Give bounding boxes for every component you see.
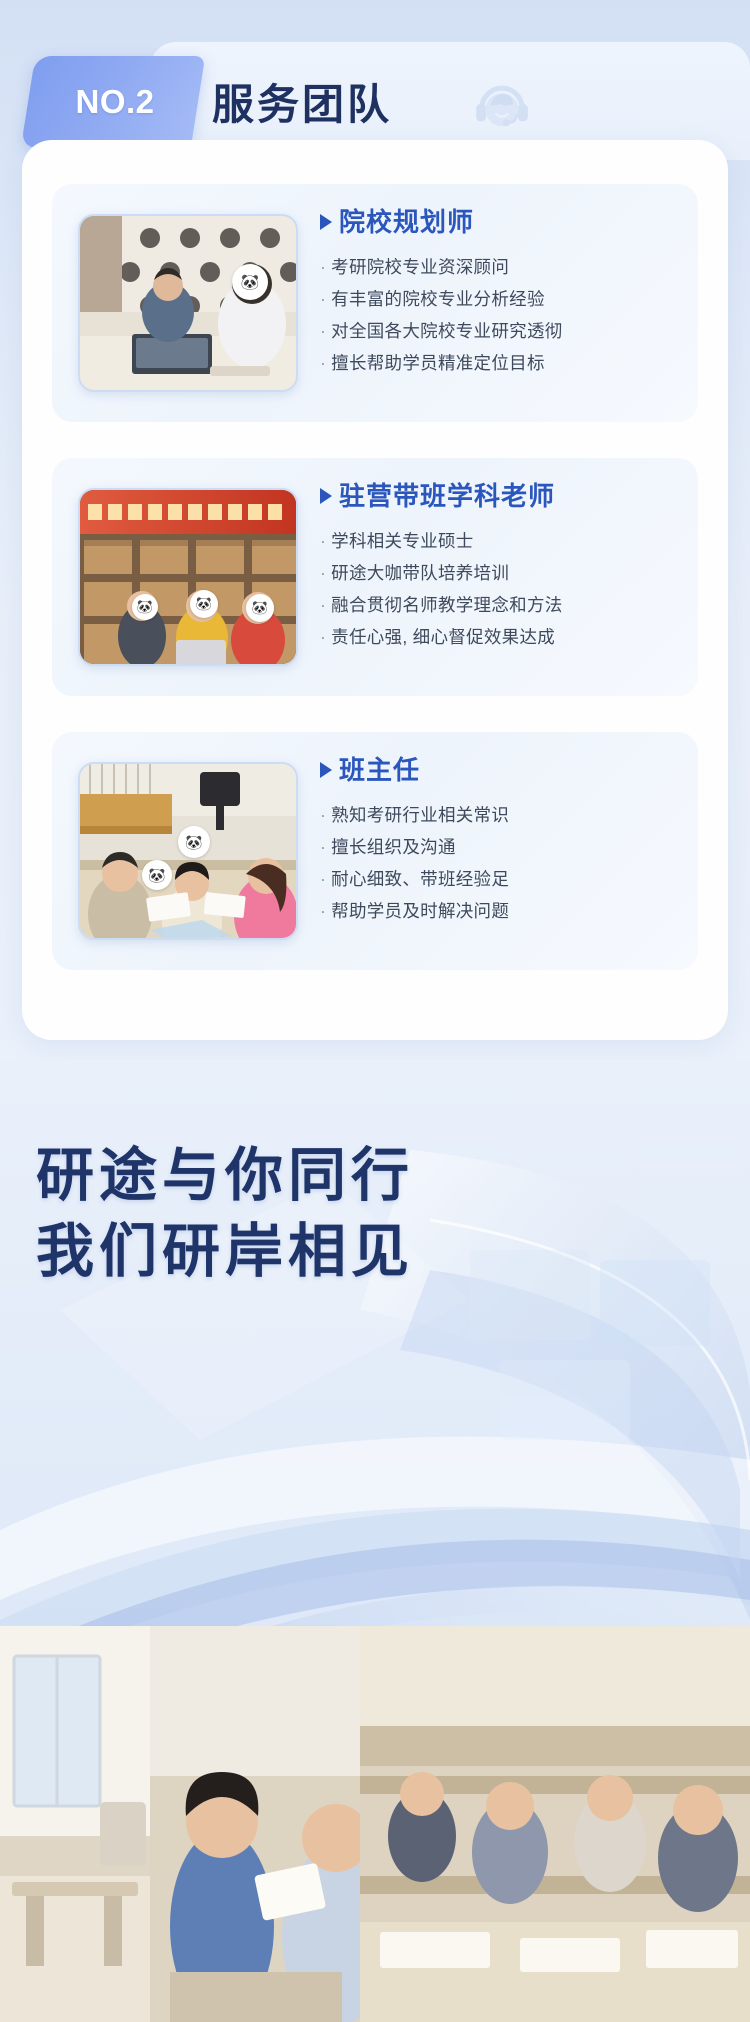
bullet-dot-icon: · xyxy=(320,595,326,615)
slogan-line-2: 我们研岸相见 xyxy=(36,1214,414,1290)
strip-photo-classroom xyxy=(360,1626,750,2022)
team-bullet: ·融合贯彻名师教学理念和方法 xyxy=(320,589,692,621)
triangle-marker-icon xyxy=(320,488,332,504)
team-bullet: ·熟知考研行业相关常识 xyxy=(320,799,692,831)
team-card-body-head-teacher: 班主任 ·熟知考研行业相关常识 ·擅长组织及沟通 ·耐心细致、带班经验足 ·帮助… xyxy=(320,750,692,927)
bullet-dot-icon: · xyxy=(320,353,326,373)
team-bullet: ·责任心强, 细心督促效果达成 xyxy=(320,621,692,653)
team-photo-planner: 🐼 xyxy=(78,214,298,392)
team-card-planner[interactable]: 🐼 院校规划师 ·考研院校专业资深顾问 ·有丰富的院校专业分析经验 ·对全国各大… xyxy=(52,184,698,422)
team-bullet: ·考研院校专业资深顾问 xyxy=(320,251,692,283)
team-bullet: ·帮助学员及时解决问题 xyxy=(320,895,692,927)
team-bullet: ·有丰富的院校专业分析经验 xyxy=(320,283,692,315)
strip-photo-study-room xyxy=(0,1626,150,2022)
face-sticker: 🐼 xyxy=(232,264,268,300)
face-sticker: 🐼 xyxy=(190,590,218,618)
bullet-dot-icon: · xyxy=(320,289,326,309)
slogan-text: 研途与你同行 我们研岸相见 xyxy=(36,1138,414,1290)
bullet-dot-icon: · xyxy=(320,531,326,551)
team-card-body-planner: 院校规划师 ·考研院校专业资深顾问 ·有丰富的院校专业分析经验 ·对全国各大院校… xyxy=(320,202,692,379)
headset-support-icon xyxy=(466,68,538,140)
team-bullet: ·学科相关专业硕士 xyxy=(320,525,692,557)
team-bullet: ·对全国各大院校专业研究透彻 xyxy=(320,315,692,347)
bullet-dot-icon: · xyxy=(320,321,326,341)
triangle-marker-icon xyxy=(320,762,332,778)
team-photo-head-teacher: 🐼 🐼 xyxy=(78,762,298,940)
face-sticker: 🐼 xyxy=(142,860,172,890)
team-bullet: ·耐心细致、带班经验足 xyxy=(320,863,692,895)
bullet-dot-icon: · xyxy=(320,805,326,825)
team-bullet: ·擅长帮助学员精准定位目标 xyxy=(320,347,692,379)
team-role-title-camp-teacher: 驻营带班学科老师 xyxy=(320,476,692,513)
bottom-photo-strip: 🌼 xyxy=(0,1626,750,2022)
triangle-marker-icon xyxy=(320,214,332,230)
slogan-line-1: 研途与你同行 xyxy=(36,1138,414,1214)
face-sticker: 🐼 xyxy=(132,594,158,620)
bullet-dot-icon: · xyxy=(320,869,326,889)
team-card-camp-teacher[interactable]: 🐼 🐼 🐼 驻营带班学科老师 ·学科相关专业硕士 ·研途大咖带队培养培训 ·融合… xyxy=(52,458,698,696)
team-card-body-camp-teacher: 驻营带班学科老师 ·学科相关专业硕士 ·研途大咖带队培养培训 ·融合贯彻名师教学… xyxy=(320,476,692,653)
section-number-badge-label: NO.2 xyxy=(40,56,190,148)
team-bullet: ·擅长组织及沟通 xyxy=(320,831,692,863)
bullet-dot-icon: · xyxy=(320,563,326,583)
team-photo-camp-teacher: 🐼 🐼 🐼 xyxy=(78,488,298,666)
face-sticker: 🐼 xyxy=(178,826,210,858)
bullet-dot-icon: · xyxy=(320,257,326,277)
team-cards-panel: 🐼 院校规划师 ·考研院校专业资深顾问 ·有丰富的院校专业分析经验 ·对全国各大… xyxy=(22,140,728,1040)
strip-photo-consultation xyxy=(150,1626,360,2022)
team-card-head-teacher[interactable]: 🐼 🐼 班主任 ·熟知考研行业相关常识 ·擅长组织及沟通 ·耐心细致、带班经验足… xyxy=(52,732,698,970)
bullet-dot-icon: · xyxy=(320,627,326,647)
team-bullet: ·研途大咖带队培养培训 xyxy=(320,557,692,589)
bullet-dot-icon: · xyxy=(320,837,326,857)
team-role-title-head-teacher: 班主任 xyxy=(320,750,692,787)
team-role-title-planner: 院校规划师 xyxy=(320,202,692,239)
bullet-dot-icon: · xyxy=(320,901,326,921)
face-sticker: 🐼 xyxy=(246,594,274,622)
